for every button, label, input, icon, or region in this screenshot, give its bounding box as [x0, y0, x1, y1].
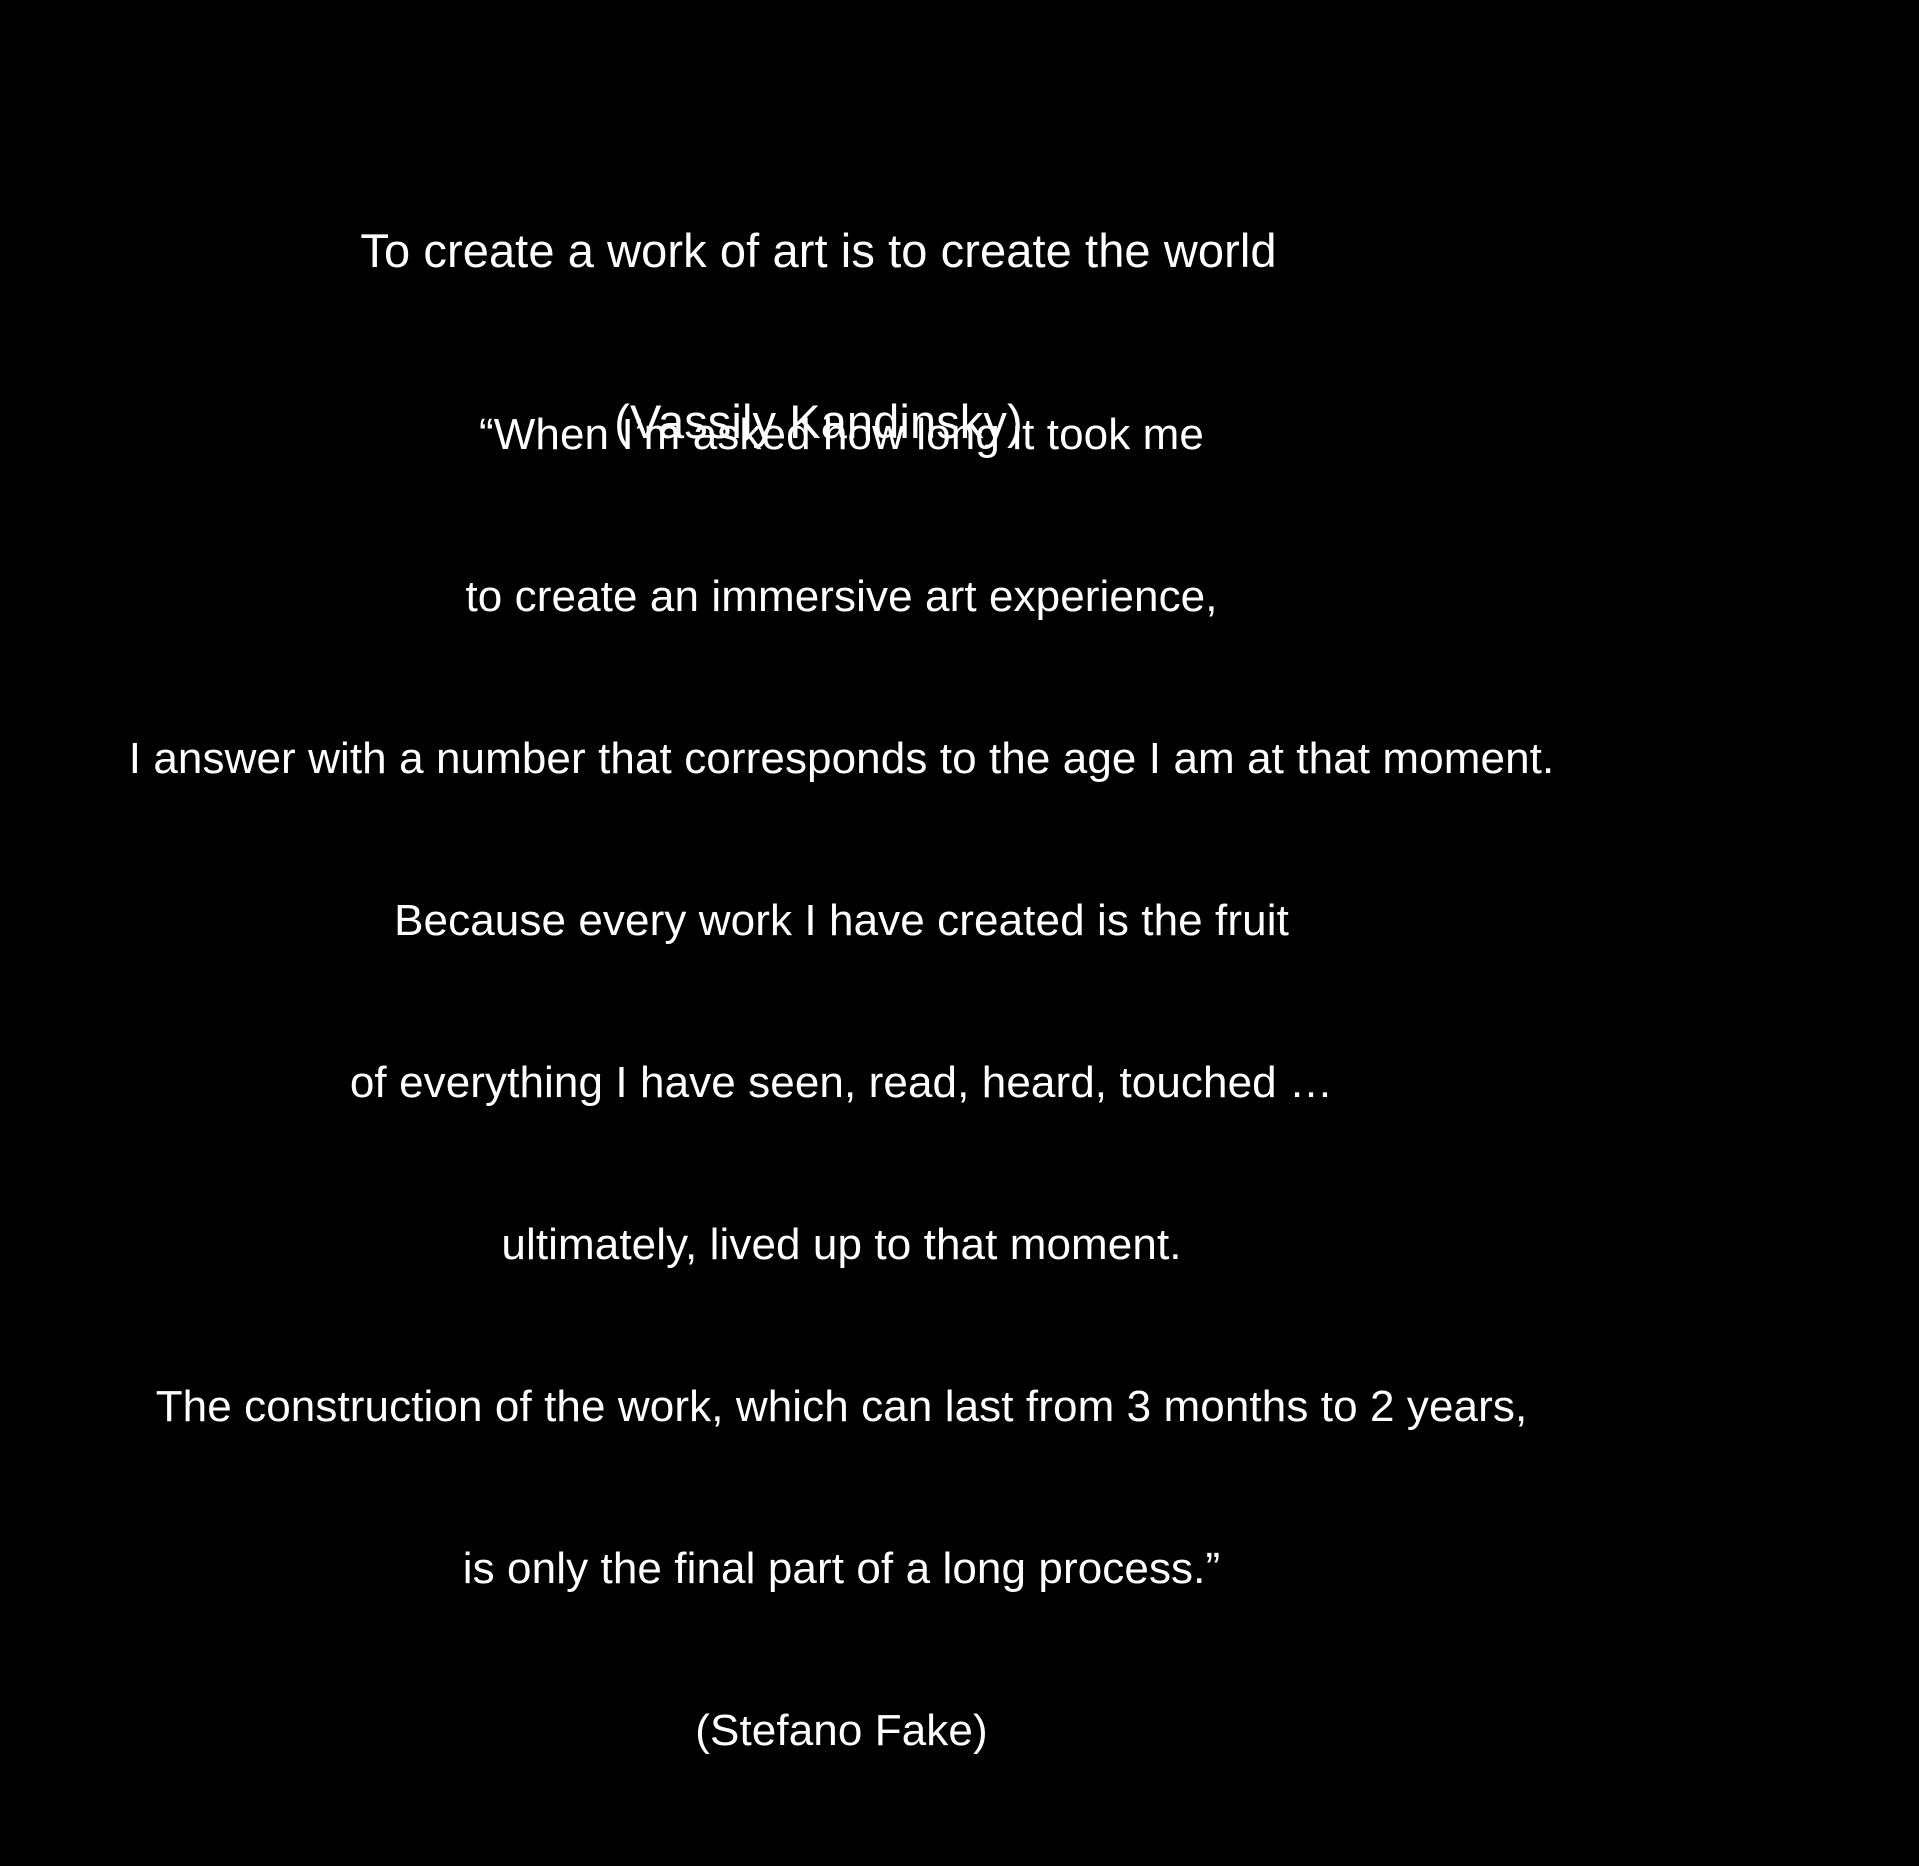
body-quote-line-2: to create an immersive art experience,: [0, 570, 1801, 624]
title-quote-line-1: To create a work of art is to create the…: [0, 222, 1778, 279]
body-quote-line-5: of everything I have seen, read, heard, …: [0, 1056, 1801, 1110]
slide-canvas: To create a work of art is to create the…: [0, 0, 1919, 1079]
body-quote-line-3: I answer with a number that corresponds …: [0, 732, 1801, 786]
body-quote-line-8: is only the final part of a long process…: [0, 1542, 1801, 1596]
body-quote-attribution: (Stefano Fake): [0, 1704, 1801, 1758]
body-quote-line-6: ultimately, lived up to that moment.: [0, 1218, 1801, 1272]
body-quote-line-1: “When I’m asked how long it took me: [0, 408, 1801, 462]
body-quote-block: “When I’m asked how long it took me to c…: [0, 300, 1919, 1866]
body-quote-line-7: The construction of the work, which can …: [0, 1380, 1801, 1434]
body-quote-line-4: Because every work I have created is the…: [0, 894, 1801, 948]
